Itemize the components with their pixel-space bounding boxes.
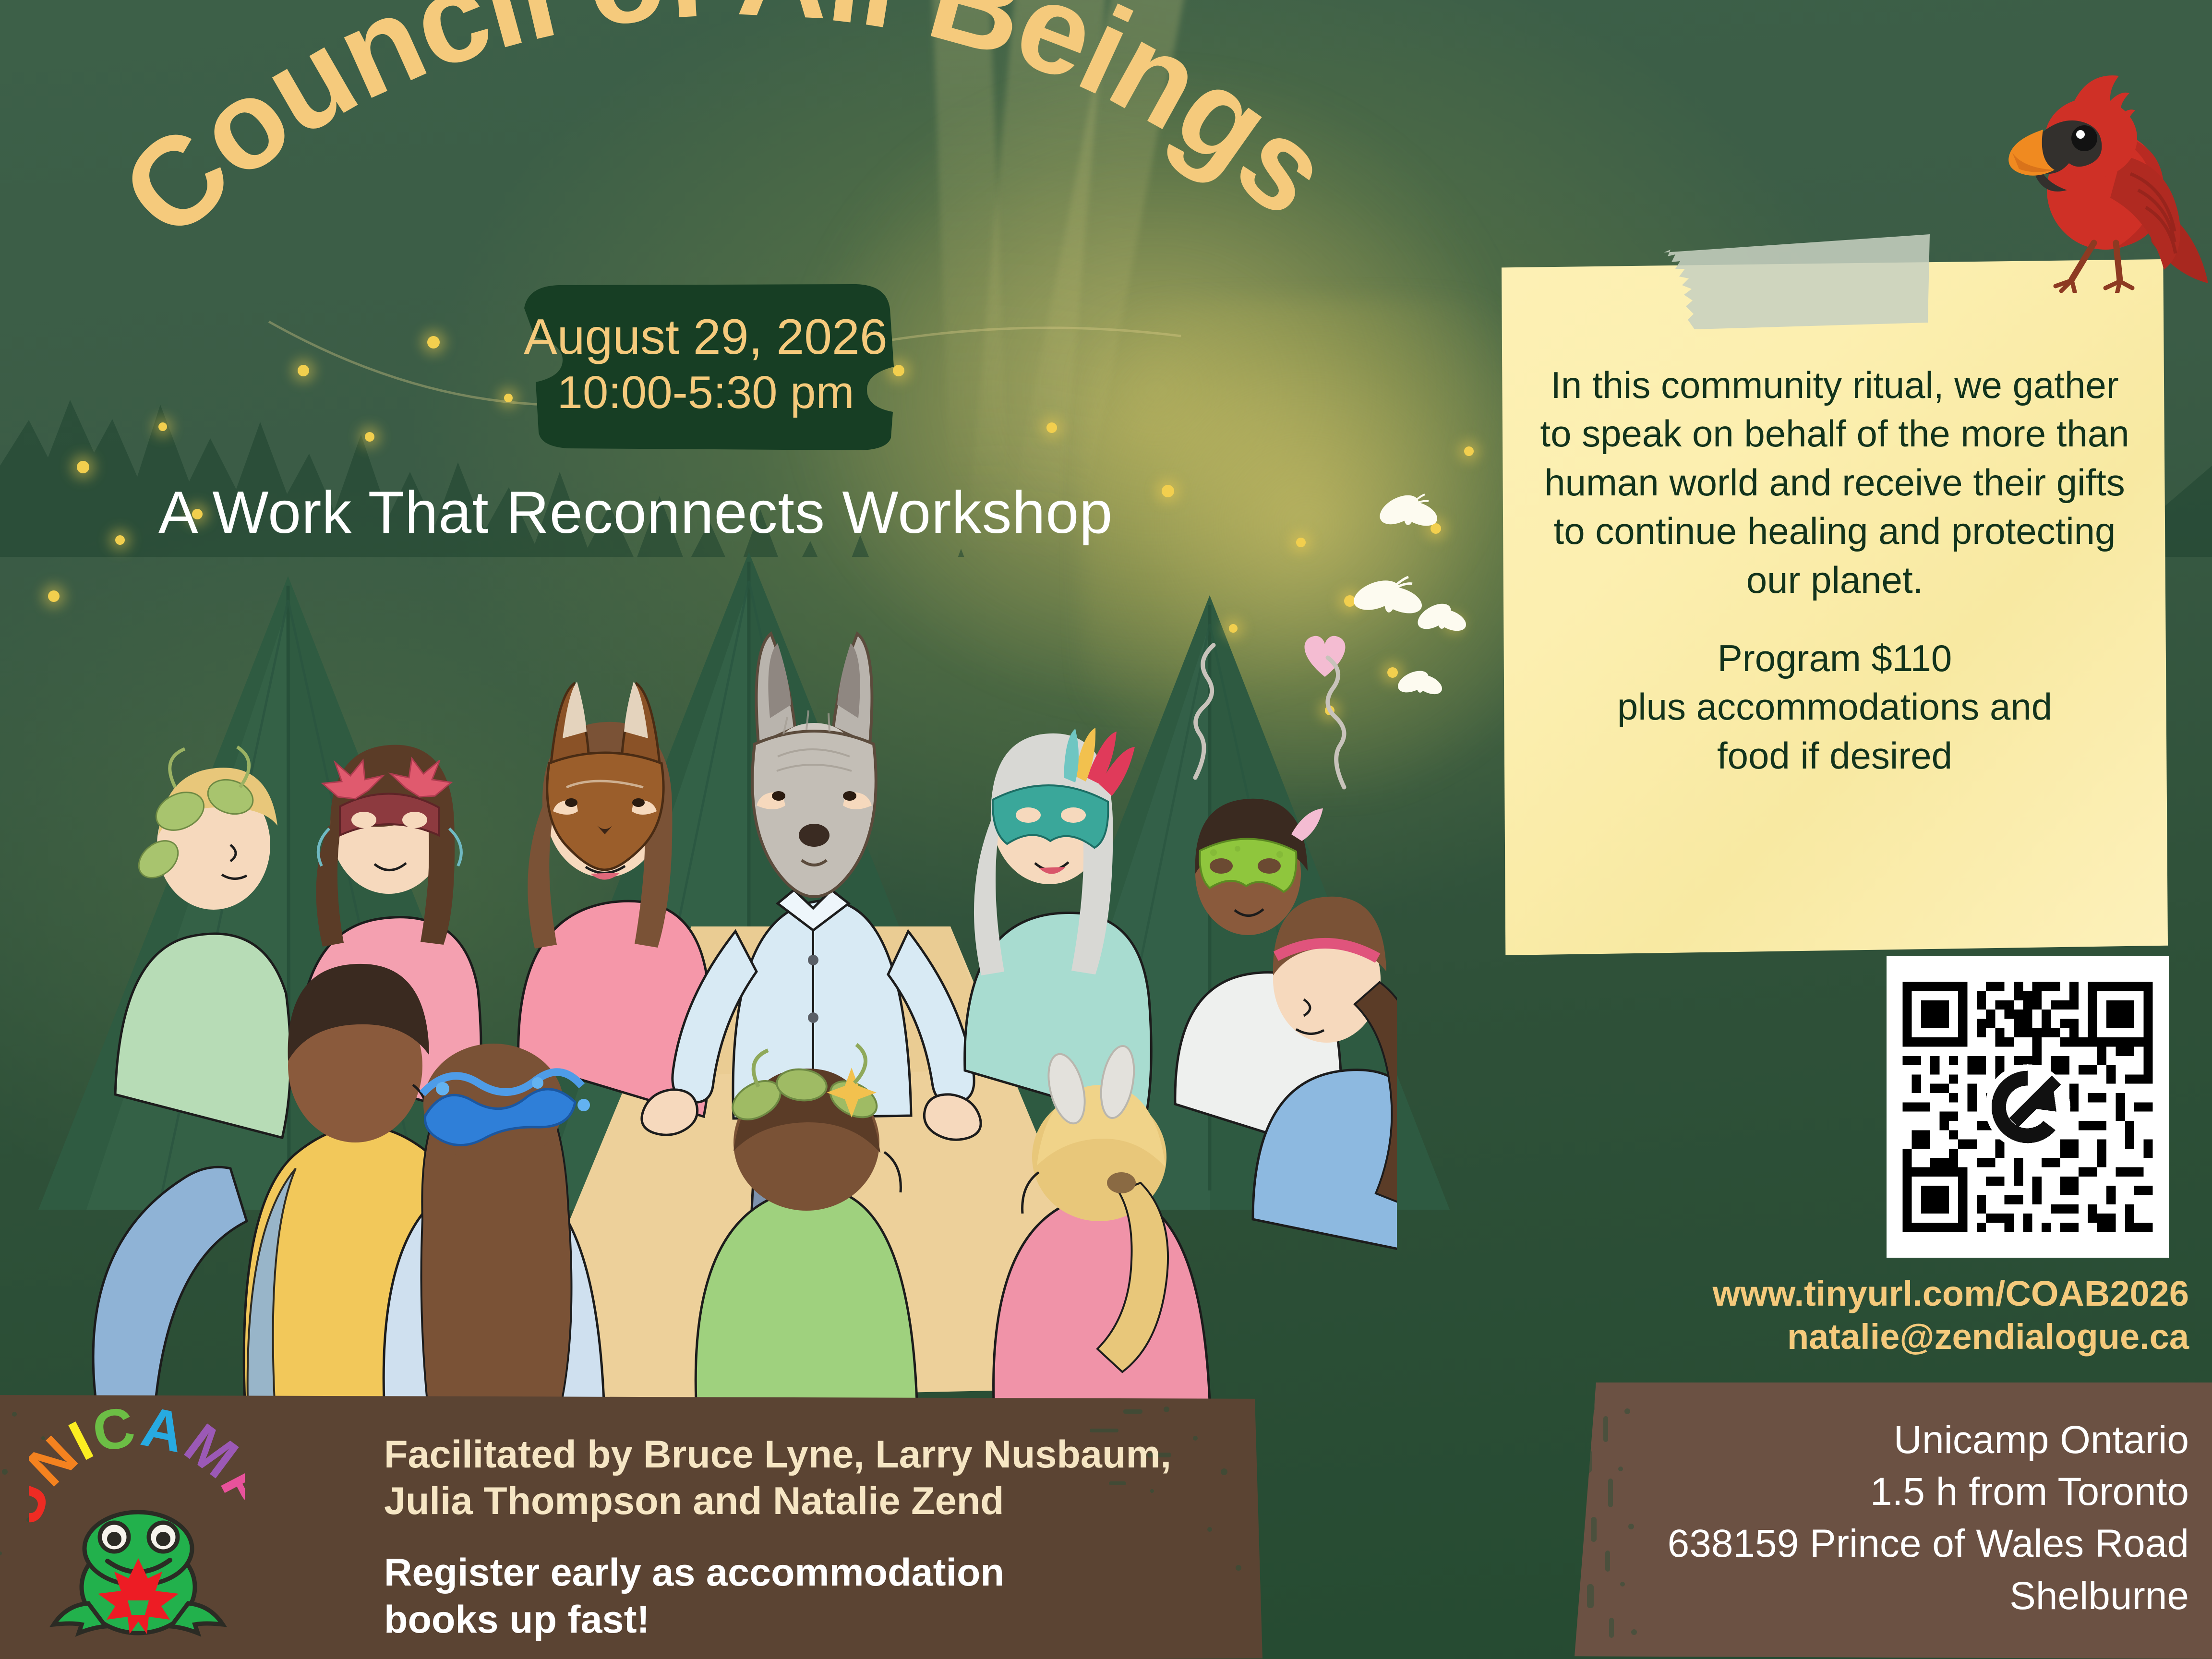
event-date: August 29, 2026 — [524, 312, 888, 362]
price-line-3: food if desired — [1617, 732, 2052, 780]
note-price: Program $110 plus accommodations and foo… — [1617, 634, 2052, 780]
note-description: In this community ritual, we gather to s… — [1535, 361, 2134, 604]
contact-links: www.tinyurl.com/COAB2026 natalie@zendial… — [1651, 1272, 2189, 1359]
venue-line-2: 1.5 h from Toronto — [1613, 1466, 2189, 1518]
facilitators-text: Facilitated by Bruce Lyne, Larry Nusbaum… — [384, 1431, 1262, 1643]
price-line-2: plus accommodations and — [1617, 683, 2052, 731]
register-line-1: Register early as accommodation — [384, 1550, 1262, 1596]
date-badge: August 29, 2026 10:00-5:30 pm — [499, 277, 912, 450]
facilitators-line-2: Julia Thompson and Natalie Zend — [384, 1478, 1262, 1525]
venue-address: Unicamp Ontario 1.5 h from Toronto 63815… — [1613, 1414, 2189, 1622]
event-poster: .sk{fill:#f6d9bd;} .sk2{fill:#e3b993;} .… — [0, 0, 2212, 1659]
registration-url[interactable]: www.tinyurl.com/COAB2026 — [1651, 1272, 2189, 1315]
page-subtitle: A Work That Reconnects Workshop — [158, 480, 1339, 545]
contact-email[interactable]: natalie@zendialogue.ca — [1651, 1315, 2189, 1358]
venue-line-4: Shelburne — [1613, 1570, 2189, 1622]
venue-line-1: Unicamp Ontario — [1613, 1414, 2189, 1466]
event-time: 10:00-5:30 pm — [557, 369, 854, 416]
price-line-1: Program $110 — [1617, 634, 2052, 683]
register-line-2: books up fast! — [384, 1597, 1262, 1643]
facilitators-line-1: Facilitated by Bruce Lyne, Larry Nusbaum… — [384, 1431, 1262, 1478]
qr-code[interactable] — [1887, 956, 2169, 1258]
venue-line-3: 638159 Prince of Wales Road — [1613, 1518, 2189, 1570]
register-notice: Register early as accommodation books up… — [384, 1550, 1262, 1643]
description-note: In this community ritual, we gather to s… — [1502, 259, 2168, 955]
